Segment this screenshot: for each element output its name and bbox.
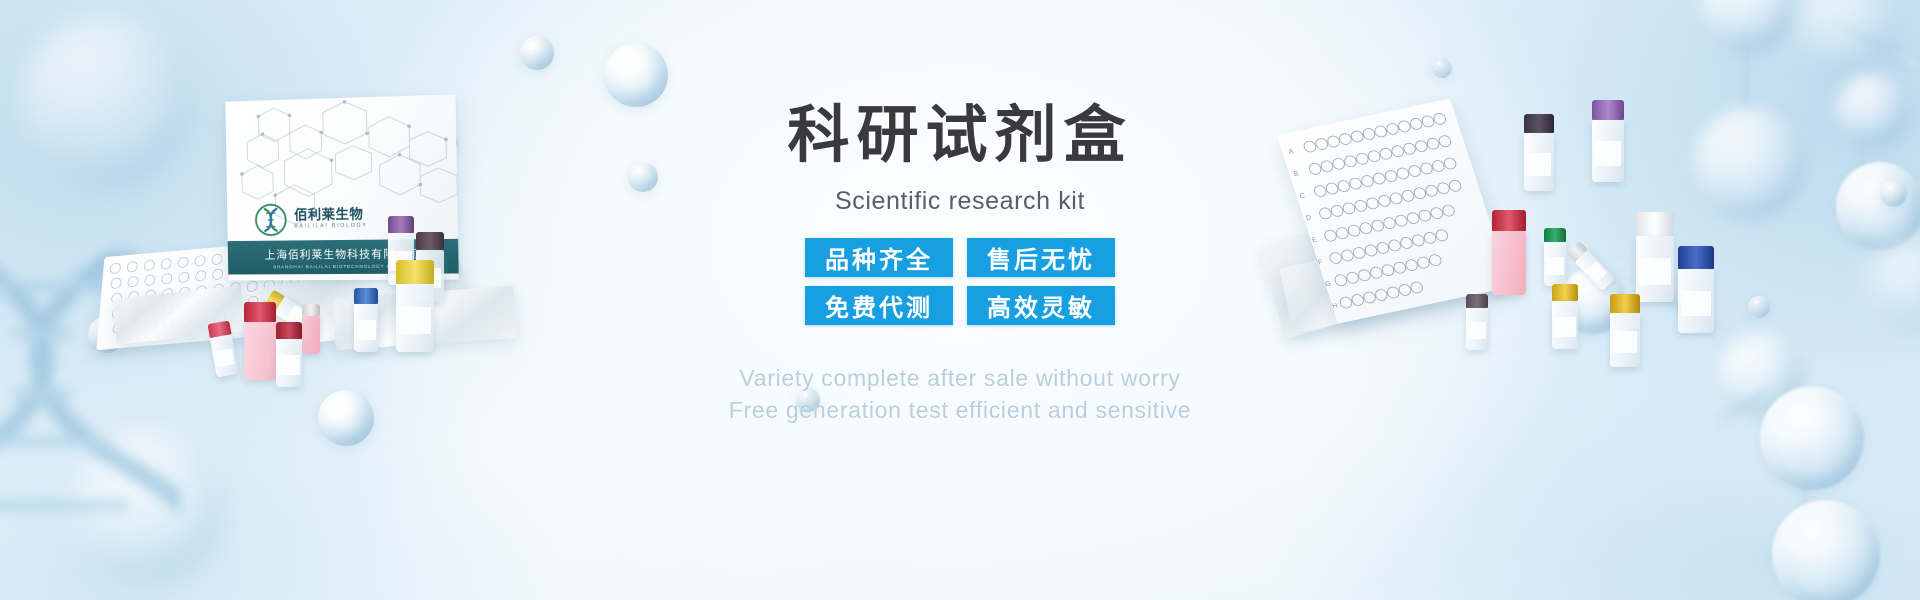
feature-badge-aftersale[interactable]: 售后无忧	[967, 238, 1115, 277]
feature-badge-sensitive[interactable]: 高效灵敏	[967, 286, 1115, 325]
product-banner: 佰利莱生物 BAILILAI BIOLOGY 上海佰利莱生物科技有限公司 SHA…	[0, 0, 1920, 600]
banner-tagline: Variety complete after sale without worr…	[729, 363, 1192, 426]
tagline-line-1: Variety complete after sale without worr…	[729, 363, 1192, 395]
feature-badge-group: 品种齐全 售后无忧 免费代测 高效灵敏	[805, 238, 1115, 325]
banner-text-block: 科研试剂盒 Scientific research kit 品种齐全 售后无忧 …	[0, 0, 1920, 600]
feature-badge-freetest[interactable]: 免费代测	[805, 286, 953, 325]
tagline-line-2: Free generation test efficient and sensi…	[729, 395, 1192, 427]
banner-subtitle: Scientific research kit	[835, 187, 1085, 216]
feature-badge-variety[interactable]: 品种齐全	[805, 238, 953, 277]
page-title: 科研试剂盒	[787, 104, 1132, 167]
